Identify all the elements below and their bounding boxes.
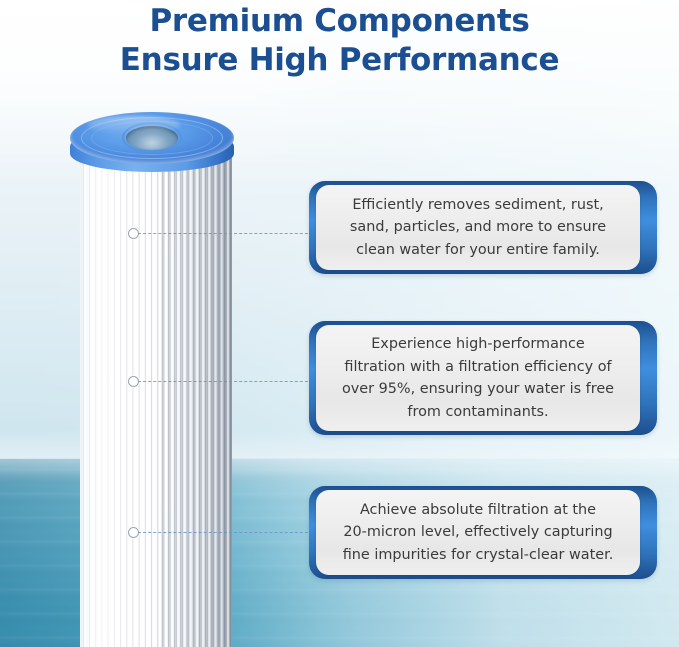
page-title: Premium Components Ensure High Performan… (0, 2, 679, 80)
callout-3-panel: Achieve absolute filtration at the 20-mi… (316, 490, 640, 575)
connector-dashed-line-3 (138, 532, 318, 533)
cap-highlight (88, 116, 180, 134)
callout-box-2[interactable]: Experience high-performance filtration w… (309, 321, 657, 435)
connector-1 (128, 233, 318, 235)
connector-dashed-line-1 (138, 233, 318, 234)
connector-2 (128, 381, 318, 383)
callout-2-text: Experience high-performance filtration w… (330, 333, 626, 423)
callout-2-panel: Experience high-performance filtration w… (316, 325, 640, 431)
connector-dashed-line-2 (138, 381, 318, 382)
water-filter-cartridge (64, 110, 240, 647)
filter-pleated-body (80, 148, 232, 647)
callout-box-3[interactable]: Achieve absolute filtration at the 20-mi… (309, 486, 657, 579)
page-title-line-1: Premium Components (0, 2, 679, 41)
callout-1-panel: Efficiently removes sediment, rust, sand… (316, 185, 640, 270)
filter-blue-end-cap (64, 110, 240, 182)
page-title-line-2: Ensure High Performance (0, 41, 679, 80)
callout-box-1[interactable]: Efficiently removes sediment, rust, sand… (309, 181, 657, 274)
callout-3-text: Achieve absolute filtration at the 20-mi… (331, 499, 626, 567)
connector-3 (128, 532, 318, 534)
callout-1-text: Efficiently removes sediment, rust, sand… (338, 194, 618, 262)
product-infographic: Premium Components Ensure High Performan… (0, 0, 679, 647)
